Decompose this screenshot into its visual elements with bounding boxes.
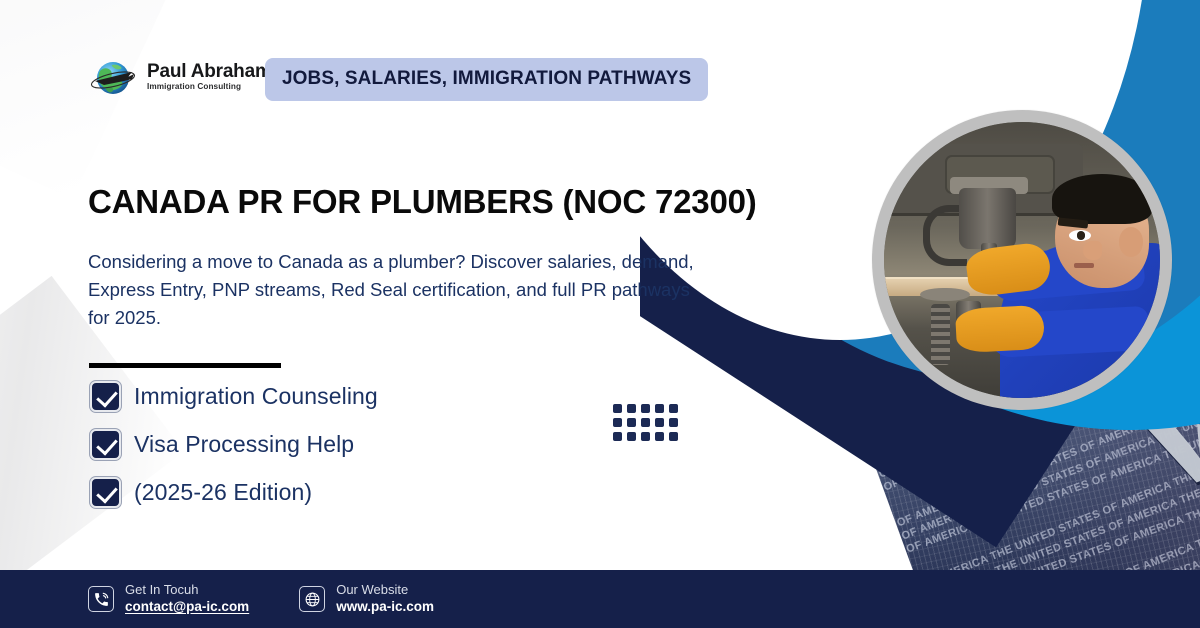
list-item[interactable]: Immigration Counseling [90,381,378,412]
decor-dot [627,432,636,441]
decor-dot [669,418,678,427]
footer-website-url[interactable]: www.pa-ic.com [336,599,434,616]
photo-corrugated-hose [931,304,950,365]
decor-dot [641,404,650,413]
decor-dot [627,418,636,427]
decor-dot [655,432,664,441]
decor-dot [669,432,678,441]
promo-banner: THE UNITED STATES OF AMERICA THE UNITED … [0,0,1200,628]
brand-logo[interactable]: Paul Abraham Immigration Consulting [88,52,272,102]
footer-website-title: Our Website [336,582,434,598]
checklist-item-label: Immigration Counseling [134,383,378,410]
footer-contact[interactable]: Get In Tocuh contact@pa-ic.com [88,582,249,616]
decor-dot [641,432,650,441]
footer-website[interactable]: Our Website www.pa-ic.com [299,582,434,616]
decor-dot [613,432,622,441]
photo-yellow-glove-lower [955,305,1046,354]
photo-worker-nose [1083,241,1102,260]
decor-dot [641,418,650,427]
photo-worker-pupil [1077,231,1086,239]
decor-dot [627,404,636,413]
page-subtext: Considering a move to Canada as a plumbe… [88,248,713,332]
checkbox-checked-icon[interactable] [90,429,121,460]
brand-logo-text: Paul Abraham Immigration Consulting [147,62,272,91]
decor-dot [655,404,664,413]
decor-dot [613,404,622,413]
checkbox-checked-icon[interactable] [90,381,121,412]
list-item[interactable]: (2025-26 Edition) [90,477,378,508]
section-divider [89,363,281,368]
brand-name: Paul Abraham [147,62,272,81]
list-item[interactable]: Visa Processing Help [90,429,378,460]
footer-bar: Get In Tocuh contact@pa-ic.com Our Websi… [0,570,1200,628]
footer-contact-title: Get In Tocuh [125,582,249,598]
globe-grid-icon [299,586,325,612]
checkbox-checked-icon[interactable] [90,477,121,508]
checklist-item-label: (2025-26 Edition) [134,479,312,506]
phone-signal-icon [88,586,114,612]
photo-garbage-disposal [959,188,1017,249]
photo-ring [872,110,1172,410]
checklist-item-label: Visa Processing Help [134,431,354,458]
footer-contact-email[interactable]: contact@pa-ic.com [125,599,249,616]
feature-checklist: Immigration Counseling Visa Processing H… [90,381,378,508]
footer-website-text: Our Website www.pa-ic.com [336,582,434,616]
decor-dot [669,404,678,413]
decor-dot [613,418,622,427]
footer-contact-text: Get In Tocuh contact@pa-ic.com [125,582,249,616]
photo-flange-ring [920,288,970,302]
plumber-under-sink-photo [884,122,1160,398]
photo-worker-mouth [1074,263,1093,269]
category-badge: JOBS, SALARIES, IMMIGRATION PATHWAYS [265,58,708,101]
brand-tagline: Immigration Consulting [147,83,272,91]
page-title: CANADA PR FOR PLUMBERS (NOC 72300) [88,183,757,221]
decor-dot [655,418,664,427]
artwork-region: THE UNITED STATES OF AMERICA THE UNITED … [640,0,1200,628]
decor-dot-grid [613,404,683,446]
photo-worker-hair [1052,174,1151,224]
globe-airplane-icon [88,52,138,102]
